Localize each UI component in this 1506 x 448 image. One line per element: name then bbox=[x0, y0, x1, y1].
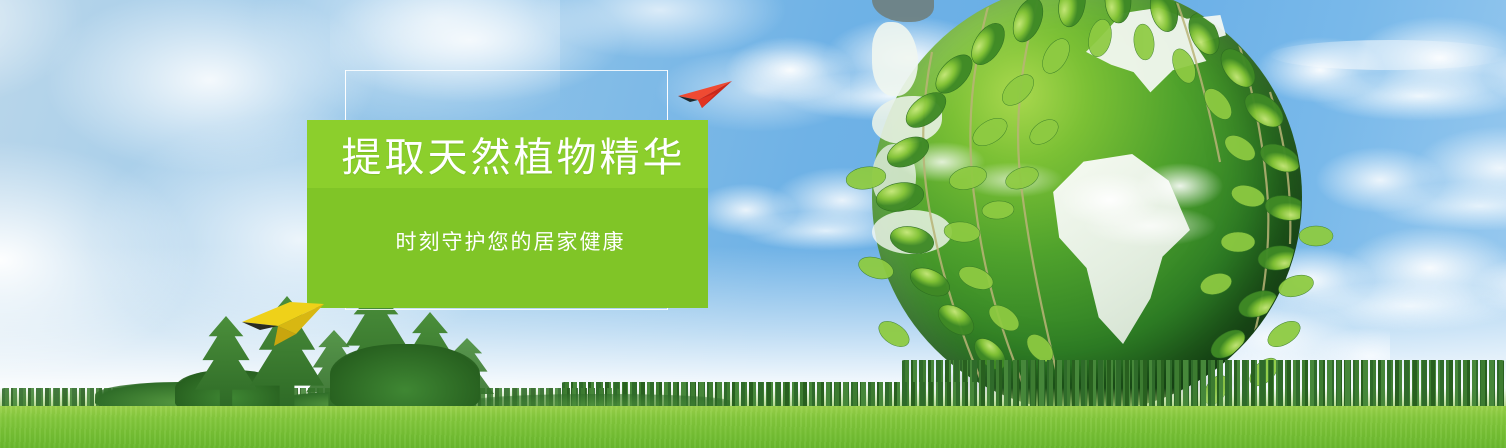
leaf-cluster-group bbox=[874, 0, 1309, 382]
earth-globe bbox=[872, 0, 1302, 412]
headline-panel: 提取天然植物精华 时刻守护您的居家健康 bbox=[307, 120, 708, 308]
treeline-right bbox=[900, 360, 1506, 408]
cloud-wisp bbox=[1270, 40, 1506, 70]
grass-field bbox=[0, 406, 1506, 448]
foliage-blob bbox=[330, 344, 480, 410]
yellow-paper-plane-icon bbox=[238, 300, 324, 350]
leaf-canopy-svg bbox=[872, 0, 1302, 412]
banner-headline: 提取天然植物精华 bbox=[307, 120, 708, 188]
hero-banner: 提取天然植物精华 时刻守护您的居家健康 bbox=[0, 0, 1506, 448]
cumulus-cloud bbox=[1290, 120, 1506, 230]
red-paper-plane-icon bbox=[676, 80, 734, 110]
banner-subheadline: 时刻守护您的居家健康 bbox=[307, 220, 708, 262]
